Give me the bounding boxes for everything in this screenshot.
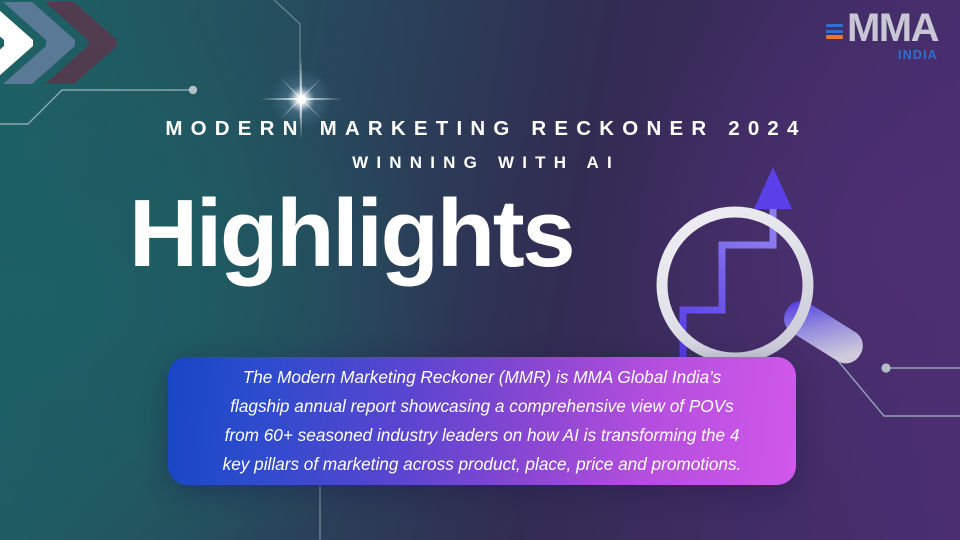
logo-wordmark-text: MMA [847,10,938,47]
description-line: key pillars of marketing across product,… [223,450,742,479]
description-line: flagship annual report showcasing a comp… [230,392,733,421]
logo-bars-icon [826,24,843,39]
magnifier-handle-icon [778,295,869,369]
logo-region-text: INDIA [898,48,938,62]
eyebrow-heading-group: MODERN MARKETING RECKONER 2024 WINNING W… [0,118,960,172]
description-line: from 60+ seasoned industry leaders on ho… [225,421,740,450]
description-card: The Modern Marketing Reckoner (MMR) is M… [168,357,796,485]
mma-logo: MMA INDIA [826,10,938,62]
description-line: The Modern Marketing Reckoner (MMR) is M… [243,363,722,392]
page-title-wrap: Highlights [0,186,960,282]
slide-canvas: MMA INDIA MODERN MARKETING RECKONER 2024… [0,0,960,540]
eyebrow-line-1: MODERN MARKETING RECKONER 2024 [12,118,960,141]
eyebrow-line-2: WINNING WITH AI [12,154,960,173]
page-title: Highlights [129,186,573,282]
chevron-arrows-decoration [0,2,136,84]
